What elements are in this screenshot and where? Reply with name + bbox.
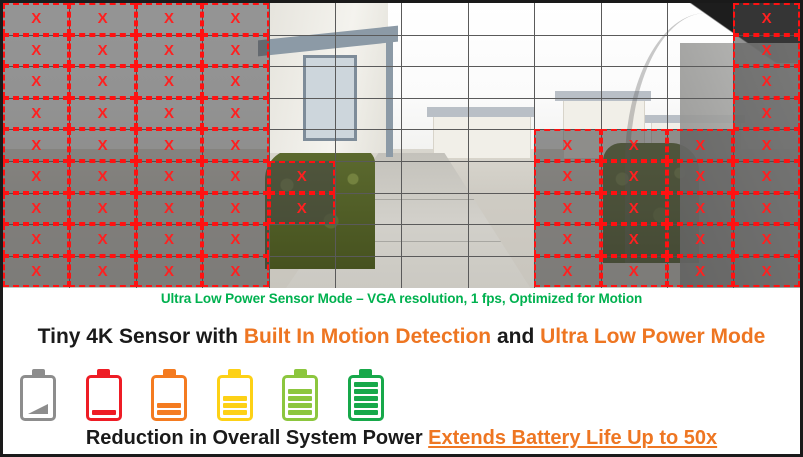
sensor-mode-caption: Ultra Low Power Sensor Mode – VGA resolu… [3,291,800,306]
battery-body [86,375,122,421]
detection-cell: X [733,256,799,288]
detection-cell: X [136,193,202,225]
detection-cell: X [733,3,799,35]
headline: Tiny 4K Sensor with Built In Motion Dete… [3,325,800,349]
detection-cell: X [69,256,135,288]
detection-cell: X [534,129,600,161]
detection-cell: X [733,35,799,67]
headline-part-1: Tiny 4K Sensor with [38,325,244,348]
detection-cell: X [202,193,268,225]
battery-empty-wedge [28,404,48,414]
detection-cell: X [202,161,268,193]
detection-cell: X [202,98,268,130]
battery-level-bar [223,403,247,408]
battery-level-bar [354,396,378,401]
battery-medium-icon [214,369,256,421]
battery-level-bar [288,403,312,408]
detection-cell: X [69,224,135,256]
battery-level-bar [288,389,312,394]
battery-empty-icon [17,369,59,421]
detection-cell: X [667,256,733,288]
detection-cell: X [136,35,202,67]
detection-cell: X [69,129,135,161]
footer-part-1: Reduction in Overall System Power [86,427,428,449]
detection-cell: X [667,193,733,225]
detection-cell: X [733,193,799,225]
detection-cell: X [534,224,600,256]
detection-cell: X [534,161,600,193]
detection-cell: X [136,98,202,130]
battery-body [348,375,384,421]
detection-cell: X [69,161,135,193]
detection-cell: X [534,193,600,225]
detection-cell: X [667,224,733,256]
detection-cell: X [69,35,135,67]
detection-cell: X [202,66,268,98]
detection-cell: X [601,129,667,161]
detection-cell: X [601,161,667,193]
detection-cell: X [733,66,799,98]
detection-cell: X [667,161,733,193]
detection-cell: X [136,256,202,288]
detection-cell: X [733,224,799,256]
battery-level-bar [288,396,312,401]
battery-low-icon [148,369,190,421]
headline-accent-low-power: Ultra Low Power Mode [540,325,765,348]
detection-cell: X [601,224,667,256]
battery-body [282,375,318,421]
battery-level-row [17,367,387,421]
detection-cell: X [136,3,202,35]
battery-body [217,375,253,421]
detection-cell: X [136,66,202,98]
detection-cell: X [3,35,69,67]
headline-part-3: and [491,325,540,348]
battery-full-icon [345,369,387,421]
detection-cell: X [136,161,202,193]
detection-cell: X [733,129,799,161]
detection-cell: X [733,161,799,193]
detection-cell: X [3,224,69,256]
detection-cell: X [601,256,667,288]
detection-cell: X [3,256,69,288]
battery-level-bar [354,382,378,387]
detection-cell: X [269,161,335,193]
detection-cell: X [202,256,268,288]
detection-cell: X [69,66,135,98]
detection-cell: X [69,3,135,35]
battery-level-bar [92,410,116,415]
battery-body [20,375,56,421]
detection-cell: X [3,129,69,161]
motion-detection-layer: XXXXXXXXXXXXXXXXXXXXXXXXXXXXXXXXXXXXXXXX… [3,3,800,288]
detection-cell: X [534,256,600,288]
battery-level-bar [157,410,181,415]
detection-cell: X [3,161,69,193]
detection-cell: X [202,224,268,256]
footer-line: Reduction in Overall System Power Extend… [3,427,800,450]
detection-cell: X [202,35,268,67]
detection-cell: X [136,129,202,161]
detection-cell: X [69,98,135,130]
detection-cell: X [3,193,69,225]
battery-level-bar [157,403,181,408]
detection-cell: X [269,193,335,225]
battery-level-bar [223,410,247,415]
battery-critical-icon [83,369,125,421]
sensor-preview-photo: XXXXXXXXXXXXXXXXXXXXXXXXXXXXXXXXXXXXXXXX… [3,3,800,288]
battery-body [151,375,187,421]
detection-cell: X [667,129,733,161]
detection-cell: X [202,3,268,35]
battery-level-bar [354,389,378,394]
detection-cell: X [3,98,69,130]
battery-level-bar [223,396,247,401]
footer-accent-battery-life: Extends Battery Life Up to 50x [428,427,717,449]
battery-level-bar [354,410,378,415]
battery-level-bar [354,403,378,408]
detection-cell: X [69,193,135,225]
detection-cell: X [3,3,69,35]
battery-level-bar [288,410,312,415]
headline-accent-motion-detection: Built In Motion Detection [244,325,491,348]
detection-cell: X [3,66,69,98]
battery-high-icon [279,369,321,421]
detection-cell: X [733,98,799,130]
detection-cell: X [601,193,667,225]
detection-cell: X [202,129,268,161]
slide-container: XXXXXXXXXXXXXXXXXXXXXXXXXXXXXXXXXXXXXXXX… [0,0,803,457]
detection-cell: X [136,224,202,256]
